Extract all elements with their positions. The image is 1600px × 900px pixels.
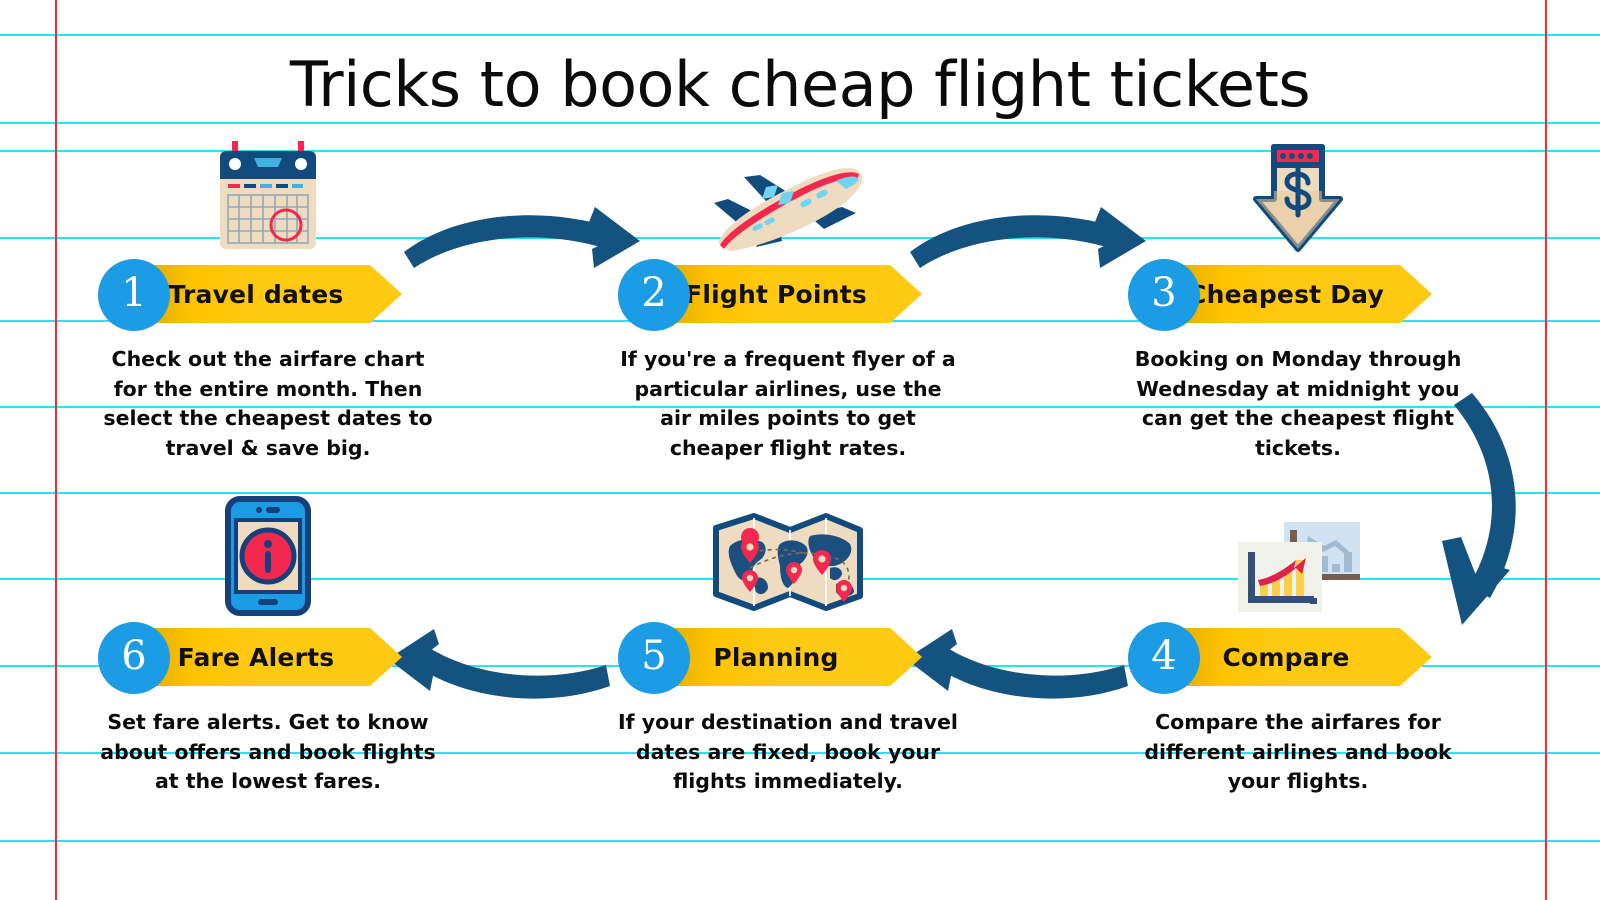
step-6-label: Fare Alerts — [178, 643, 335, 672]
step-5-banner[interactable]: Planning — [656, 628, 922, 686]
step-3-banner[interactable]: Cheapest Day — [1166, 265, 1432, 323]
step-3-number: 3 — [1151, 273, 1176, 317]
step-5-description: If your destination and travel dates are… — [618, 708, 958, 797]
step-4-icon-box — [1128, 498, 1468, 618]
step-4-banner-row: Compare 4 — [1128, 622, 1468, 694]
step-2-number-badge: 2 — [618, 259, 690, 331]
step-5-number: 5 — [641, 636, 666, 680]
step-2-icon-box — [618, 135, 958, 255]
step-1-icon-box — [98, 135, 438, 255]
step-3-banner-row: Cheapest Day 3 — [1128, 259, 1468, 331]
step-6-banner[interactable]: Fare Alerts — [136, 628, 402, 686]
step-4-number-badge: 4 — [1128, 622, 1200, 694]
step-6-icon-box — [98, 498, 438, 618]
step-3-label: Cheapest Day — [1188, 280, 1384, 309]
bar-chart-comparison-icon — [1232, 516, 1364, 618]
step-card-5: Planning 5 If your destination and trave… — [618, 498, 958, 797]
step-5-icon-box — [618, 498, 958, 618]
step-6-number-badge: 6 — [98, 622, 170, 694]
step-4-description: Compare the airfares for different airli… — [1128, 708, 1468, 797]
step-2-number: 2 — [641, 273, 666, 317]
folded-world-map-icon — [710, 508, 866, 618]
step-6-description: Set fare alerts. Get to know about offer… — [98, 708, 438, 797]
step-5-label: Planning — [713, 643, 838, 672]
step-1-banner-row: Travel dates 1 — [98, 259, 438, 331]
airplane-icon — [704, 151, 872, 255]
step-1-number-badge: 1 — [98, 259, 170, 331]
step-2-banner-row: Flight Points 2 — [618, 259, 958, 331]
step-6-banner-row: Fare Alerts 6 — [98, 622, 438, 694]
step-2-description: If you're a frequent flyer of a particul… — [618, 345, 958, 463]
step-1-label: Travel dates — [169, 280, 344, 309]
step-2-banner[interactable]: Flight Points — [656, 265, 922, 323]
step-3-icon-box — [1128, 135, 1468, 255]
step-card-1: Travel dates 1 Check out the airfare cha… — [98, 135, 438, 463]
step-2-label: Flight Points — [685, 280, 867, 309]
step-4-banner[interactable]: Compare — [1166, 628, 1432, 686]
page-title: Tricks to book cheap flight tickets — [0, 48, 1600, 121]
infographic-canvas: Tricks to book cheap flight tickets — [0, 0, 1600, 900]
price-down-arrow-icon — [1246, 139, 1350, 255]
step-3-description: Booking on Monday through Wednesday at m… — [1128, 345, 1468, 463]
step-1-banner[interactable]: Travel dates — [136, 265, 402, 323]
step-1-description: Check out the airfare chart for the enti… — [98, 345, 438, 463]
step-1-number: 1 — [121, 273, 146, 317]
step-3-number-badge: 3 — [1128, 259, 1200, 331]
phone-alert-icon — [222, 494, 314, 618]
content-layer: Tricks to book cheap flight tickets — [0, 0, 1600, 900]
step-5-number-badge: 5 — [618, 622, 690, 694]
step-card-3: Cheapest Day 3 Booking on Monday through… — [1128, 135, 1468, 463]
step-4-number: 4 — [1151, 636, 1176, 680]
step-6-number: 6 — [121, 636, 146, 680]
step-4-label: Compare — [1222, 643, 1349, 672]
step-5-banner-row: Planning 5 — [618, 622, 958, 694]
step-card-2: Flight Points 2 If you're a frequent fly… — [618, 135, 958, 463]
calendar-icon — [206, 137, 330, 255]
step-card-4: Compare 4 Compare the airfares for diffe… — [1128, 498, 1468, 797]
step-card-6: Fare Alerts 6 Set fare alerts. Get to kn… — [98, 498, 438, 797]
